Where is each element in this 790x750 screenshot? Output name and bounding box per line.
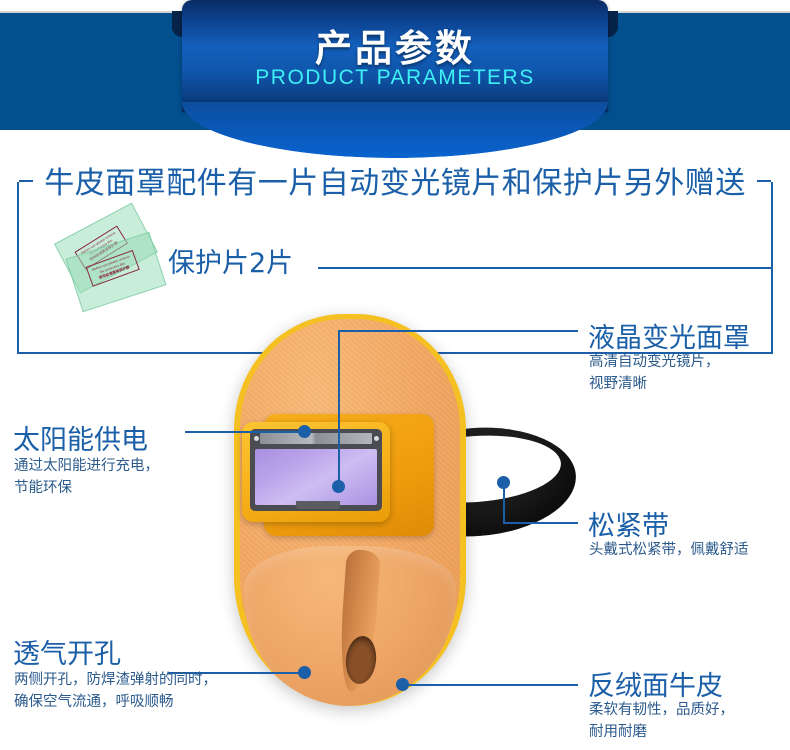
welding-mask-product-image xyxy=(200,300,600,720)
solar-cell-strip xyxy=(260,433,372,444)
callout-line-elastic-band-vertical xyxy=(503,482,505,524)
sensor-dot-right xyxy=(374,436,379,441)
callout-title-vent-holes: 透气开孔 xyxy=(13,632,121,671)
headline-text-wrap: 牛皮面罩配件有一片自动变光镜片和保护片另外赠送 xyxy=(0,158,790,202)
callout-body-lcd-mask-line2: 视野清晰 xyxy=(589,374,647,396)
callout-body-suede-leather-line1: 柔软有韧性，品质好， xyxy=(589,700,734,722)
callout-body-vent-holes-line2: 确保空气流通，呼吸顺畅 xyxy=(14,692,174,714)
callout-title-solar-power: 太阳能供电 xyxy=(13,418,148,457)
callout-title-suede-leather: 反绒面牛皮 xyxy=(588,664,723,703)
callout-body-vent-holes-line1: 两侧开孔，防焊渣弹射的同时， xyxy=(14,670,217,692)
film-label-2: Before use please remove the protective … xyxy=(86,250,140,287)
callout-line-lcd-mask-horizontal xyxy=(338,330,578,332)
protective-films-rule xyxy=(318,267,773,269)
lens-bottom-notch xyxy=(296,501,340,509)
callout-line-solar-power xyxy=(185,431,305,433)
callout-body-lcd-mask-line1: 高清自动变光镜片， xyxy=(589,352,720,374)
callout-body-solar-power-line2: 节能环保 xyxy=(14,478,72,500)
headline-text: 牛皮面罩配件有一片自动变光镜片和保护片另外赠送 xyxy=(36,166,754,201)
callout-body-elastic-band-line1: 头戴式松紧带，佩戴舒适 xyxy=(589,540,749,562)
sensor-dot-left xyxy=(254,436,259,441)
banner-title: 产品参数 xyxy=(182,18,608,72)
callout-body-solar-power-line1: 通过太阳能进行充电， xyxy=(14,456,159,478)
ribbon-tail xyxy=(182,102,608,158)
callout-title-lcd-mask: 液晶变光面罩 xyxy=(588,316,750,355)
banner-subtitle: PRODUCT PARAMETERS xyxy=(182,66,608,90)
lens-dark-bezel xyxy=(250,429,382,511)
callout-line-suede-leather xyxy=(402,684,578,686)
callout-line-elastic-band-horizontal xyxy=(503,522,578,524)
callout-line-lcd-mask-vertical xyxy=(338,331,340,486)
protective-films-illustration: Before use please remove the protective … xyxy=(48,218,168,310)
auto-darkening-lens-glass xyxy=(255,449,377,505)
protective-films-caption: 保护片2片 xyxy=(168,241,293,280)
callout-title-elastic-band: 松紧带 xyxy=(588,504,669,543)
header-banner: 产品参数 PRODUCT PARAMETERS xyxy=(0,0,790,130)
lens-yellow-frame xyxy=(242,422,390,522)
callout-body-suede-leather-line2: 耐用耐磨 xyxy=(589,722,647,744)
